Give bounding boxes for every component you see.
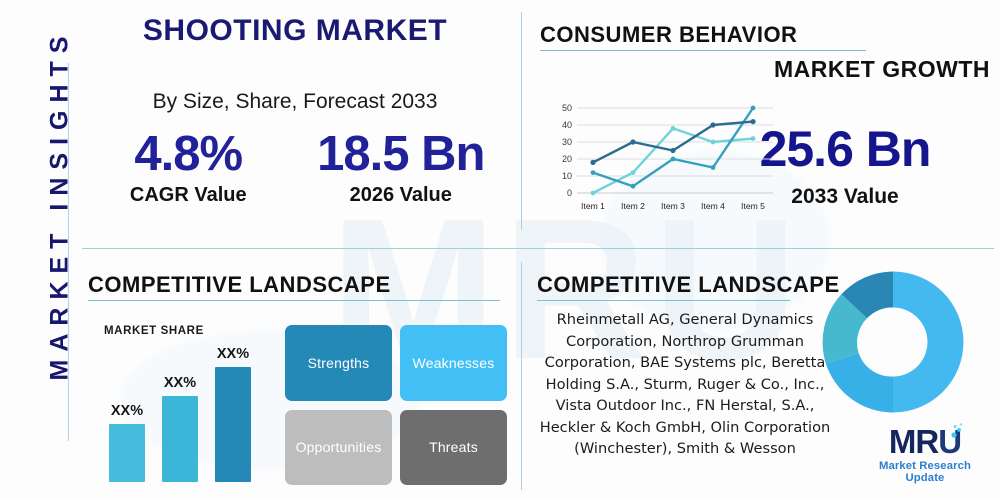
- stat-2026-label: 2026 Value: [295, 184, 508, 207]
- page-title: SHOOTING MARKET: [90, 14, 500, 48]
- section-heading-consumer-behavior: CONSUMER BEHAVIOR: [540, 22, 797, 48]
- svg-text:20: 20: [562, 154, 572, 164]
- logo-wordmark: MRU: [889, 425, 961, 459]
- stat-cagr: 4.8% CAGR Value: [82, 126, 295, 207]
- svg-text:Item 5: Item 5: [741, 201, 765, 211]
- divider-horizontal: [82, 248, 994, 249]
- consumer-behavior-line-chart: 50 40 30 20 10 0 Item 1 Item 2 Item 3 It…: [545, 100, 775, 220]
- infographic-root: MRU MARKET INSIGHTS SHOOTING MARKET By S…: [0, 0, 1000, 500]
- svg-text:Item 2: Item 2: [621, 201, 645, 211]
- market-share-donut-chart: [818, 267, 968, 417]
- svg-text:Item 4: Item 4: [701, 201, 725, 211]
- market-share-bar-chart: XX% XX% XX%: [95, 330, 275, 482]
- chart-x-axis-labels: Item 1 Item 2 Item 3 Item 4 Item 5: [581, 201, 765, 211]
- swot-opportunities[interactable]: Opportunities: [285, 410, 392, 486]
- swot-strengths[interactable]: Strengths: [285, 325, 392, 401]
- logo-mark-mr: MR: [889, 423, 938, 460]
- stat-2026: 18.5 Bn 2026 Value: [295, 126, 508, 207]
- section-rule-competitive-left: [88, 300, 500, 301]
- bar-3-label: XX%: [203, 346, 263, 362]
- chart-y-axis-labels: 50 40 30 20 10 0: [562, 103, 572, 198]
- svg-text:Item 3: Item 3: [661, 201, 685, 211]
- logo-tagline: Market Research Update: [860, 460, 990, 484]
- section-heading-competitive-left: COMPETITIVE LANDSCAPE: [88, 272, 391, 298]
- bar-1: [109, 424, 145, 482]
- svg-text:50: 50: [562, 103, 572, 113]
- company-list: Rheinmetall AG, General Dynamics Corpora…: [535, 309, 835, 460]
- svg-text:10: 10: [562, 171, 572, 181]
- divider-vertical-center-bottom: [521, 262, 522, 490]
- bar-2-label: XX%: [150, 375, 210, 391]
- swot-threats-label: Threats: [429, 439, 478, 455]
- swot-opportunities-label: Opportunities: [296, 439, 382, 455]
- mru-logo: MRU Market Research Update: [860, 425, 990, 484]
- swot-threats[interactable]: Threats: [400, 410, 507, 486]
- bar-1-label: XX%: [97, 403, 157, 419]
- page-subtitle: By Size, Share, Forecast 2033: [90, 90, 500, 114]
- svg-text:30: 30: [562, 137, 572, 147]
- donut-segment-2: [826, 353, 893, 412]
- swot-weaknesses[interactable]: Weaknesses: [400, 325, 507, 401]
- divider-vertical-center-top: [521, 12, 522, 230]
- svg-text:0: 0: [567, 188, 572, 198]
- section-rule-competitive-right: [537, 300, 790, 301]
- stat-2026-value: 18.5 Bn: [295, 126, 508, 182]
- stat-row: 4.8% CAGR Value 18.5 Bn 2026 Value: [82, 126, 507, 207]
- section-heading-competitive-right: COMPETITIVE LANDSCAPE: [537, 272, 840, 298]
- bar-2: [162, 396, 198, 482]
- swot-weaknesses-label: Weaknesses: [413, 355, 495, 371]
- donut-segment-1: [893, 272, 963, 413]
- swot-strengths-label: Strengths: [308, 355, 370, 371]
- stat-cagr-value: 4.8%: [82, 126, 295, 182]
- sidebar-vertical-label: MARKET INSIGHTS: [46, 0, 75, 415]
- logo-bubbles-icon: [950, 421, 964, 439]
- bar-3: [215, 367, 251, 482]
- stat-cagr-label: CAGR Value: [82, 184, 295, 207]
- svg-text:Item 1: Item 1: [581, 201, 605, 211]
- section-heading-market-growth: MARKET GROWTH: [640, 56, 990, 83]
- swot-grid: Strengths Weaknesses Opportunities Threa…: [285, 325, 507, 485]
- section-rule-consumer-behavior: [540, 50, 866, 51]
- svg-text:40: 40: [562, 120, 572, 130]
